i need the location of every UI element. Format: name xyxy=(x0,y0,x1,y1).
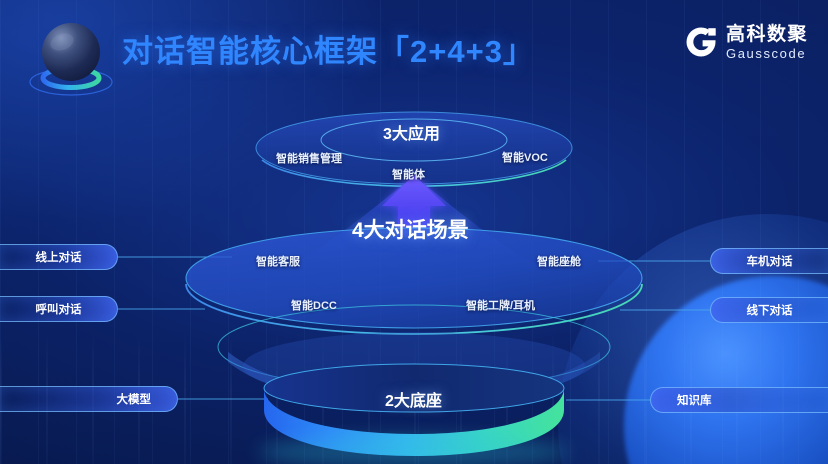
tier-title-foundations: 2大底座 xyxy=(385,387,442,411)
pill-online-dialogue[interactable]: 线上对话 xyxy=(0,244,118,270)
pill-large-model[interactable]: 大模型 xyxy=(0,386,178,412)
pill-knowledge-base[interactable]: 知识库 xyxy=(650,387,828,413)
page-title: 对话智能核心框架「2+4+3」 xyxy=(122,26,535,71)
pill-offline-dialogue[interactable]: 线下对话 xyxy=(710,297,828,323)
node-smart-sales-management: 智能销售管理 xyxy=(276,150,342,166)
tier-title-scenarios: 4大对话场景 xyxy=(352,214,469,244)
pill-in-car-dialogue[interactable]: 车机对话 xyxy=(710,248,828,274)
node-smart-dcc: 智能DCC xyxy=(291,297,337,313)
node-smart-cockpit: 智能座舱 xyxy=(537,253,581,269)
tier-title-applications: 3大应用 xyxy=(383,120,440,144)
sphere-on-ring-icon xyxy=(26,12,116,100)
brand-name-cn: 高科数聚 xyxy=(726,25,808,44)
node-smart-customer-service: 智能客服 xyxy=(256,253,300,269)
slide-canvas: 对话智能核心框架「2+4+3」 高科数聚 Gausscode 3大应用 4大对话… xyxy=(0,0,828,464)
node-smart-badge-headset: 智能工牌/耳机 xyxy=(466,297,535,313)
node-agent: 智能体 xyxy=(392,166,425,182)
brand-logo: 高科数聚 Gausscode xyxy=(683,16,808,68)
gausscode-g-icon xyxy=(683,24,719,60)
node-smart-voc: 智能VOC xyxy=(502,149,548,165)
tier-foundations xyxy=(258,364,570,464)
brand-name-en: Gausscode xyxy=(726,47,808,60)
pill-call-dialogue[interactable]: 呼叫对话 xyxy=(0,296,118,322)
slide-header: 对话智能核心框架「2+4+3」 高科数聚 Gausscode xyxy=(0,0,828,104)
